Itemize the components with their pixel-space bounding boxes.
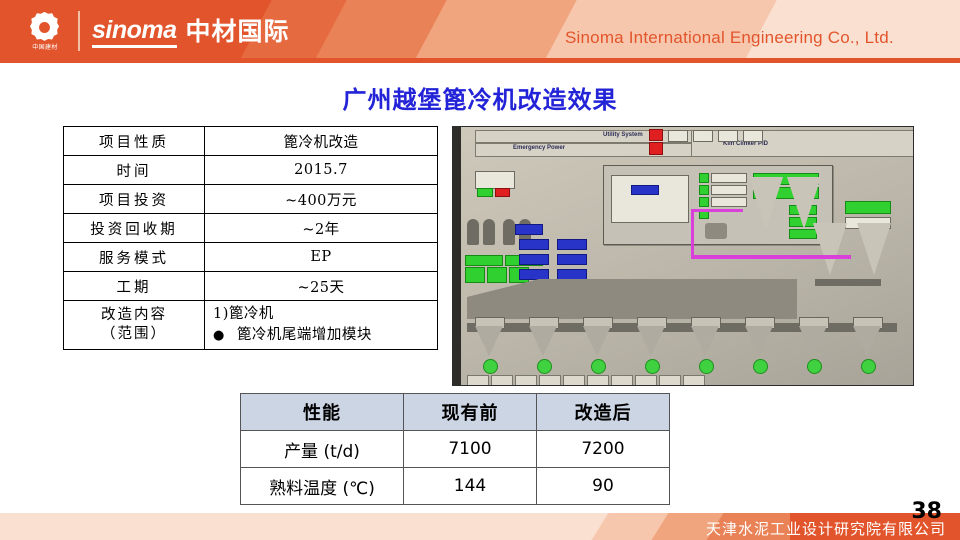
brand-latin: sinoma <box>92 17 177 48</box>
info-value: 2015.7 <box>205 156 438 185</box>
hmi-toolbar-button <box>659 375 681 386</box>
hmi-hopper <box>583 326 611 356</box>
control-room-hmi-photo: Utility System Emergency Power Kiln Clin… <box>452 126 914 386</box>
info-key: 项目性质 <box>64 127 205 156</box>
hmi-toolbar-button <box>683 375 705 386</box>
scope-line-1: 1)篦冷机 <box>213 304 435 325</box>
hmi-label-emergency-power: Emergency Power <box>513 145 565 151</box>
hmi-motor-indicator <box>645 359 660 374</box>
hmi-value-readout <box>557 254 587 265</box>
hmi-motor-indicator <box>591 359 606 374</box>
table-row: 时间 2015.7 <box>64 156 438 185</box>
hmi-motor-indicator <box>699 359 714 374</box>
hmi-motor-indicator <box>753 359 768 374</box>
metric-before: 7100 <box>404 431 537 468</box>
info-value: ~400万元 <box>205 185 438 214</box>
hmi-toolbar-button <box>467 375 489 386</box>
hmi-equipment <box>705 223 727 239</box>
hmi-silo-cone <box>813 223 847 275</box>
gear-logo-icon <box>28 11 61 44</box>
hmi-motor-indicator <box>483 359 498 374</box>
hmi-hopper <box>637 326 665 356</box>
hmi-hopper <box>691 326 719 356</box>
hmi-button <box>743 130 763 142</box>
sinoma-logo: 中国建材 <box>22 9 68 55</box>
brand-lockup: sinoma 中材国际 <box>92 12 290 52</box>
hmi-field <box>711 197 747 207</box>
hmi-motor-indicator <box>861 359 876 374</box>
hmi-hopper <box>745 326 773 356</box>
page-title: 广州越堡篦冷机改造效果 <box>0 80 960 115</box>
hmi-status-green <box>477 188 493 197</box>
hmi-value-readout <box>557 269 587 280</box>
table-row: 投资回收期 ~2年 <box>64 214 438 243</box>
hmi-silo-cone <box>857 223 891 275</box>
header-underline <box>0 58 960 63</box>
hmi-status-green <box>845 201 891 214</box>
metric-after: 7200 <box>537 431 670 468</box>
info-value: EP <box>205 243 438 272</box>
hmi-vessel <box>467 219 479 245</box>
metric-name: 产量 (t/d) <box>241 431 404 468</box>
hmi-status-green <box>465 267 485 283</box>
hmi-status-green <box>699 197 709 207</box>
table-header-row: 性能 现有前 改造后 <box>241 394 670 431</box>
info-key: 项目投资 <box>64 185 205 214</box>
project-info-table: 项目性质 篦冷机改造 时间 2015.7 项目投资 ~400万元 投资回收期 ~… <box>63 126 438 350</box>
hmi-status-green <box>699 173 709 183</box>
info-key: 服务模式 <box>64 243 205 272</box>
column-header-metric: 性能 <box>241 394 404 431</box>
table-row: 项目投资 ~400万元 <box>64 185 438 214</box>
metric-before: 144 <box>404 468 537 505</box>
hmi-hopper <box>853 326 881 356</box>
hmi-toolbar-button <box>611 375 633 386</box>
hmi-status-green <box>487 267 507 283</box>
table-row: 服务模式 EP <box>64 243 438 272</box>
hmi-button <box>693 130 713 142</box>
hmi-toolbar-button <box>587 375 609 386</box>
logo-caption: 中国建材 <box>22 44 68 52</box>
column-header-after: 改造后 <box>537 394 670 431</box>
hmi-alarm-indicator <box>649 129 663 141</box>
hmi-status-red <box>495 188 510 197</box>
hmi-silo-cone <box>749 177 783 229</box>
monitor-bezel <box>453 127 461 385</box>
metric-name: 熟料温度 (℃) <box>241 468 404 505</box>
hmi-pipe <box>691 255 851 259</box>
hmi-status-green <box>465 255 503 266</box>
info-key: 时间 <box>64 156 205 185</box>
hmi-field <box>711 185 747 195</box>
hmi-pipe <box>691 209 694 257</box>
hmi-toolbar-button <box>539 375 561 386</box>
info-value: 篦冷机改造 <box>205 127 438 156</box>
hmi-label-utility-system: Utility System <box>603 132 643 138</box>
table-row: 项目性质 篦冷机改造 <box>64 127 438 156</box>
hmi-screen-content: Utility System Emergency Power Kiln Clin… <box>453 127 913 385</box>
performance-comparison-table: 性能 现有前 改造后 产量 (t/d) 7100 7200 熟料温度 (℃) 1… <box>240 393 670 505</box>
hmi-tag-box <box>475 171 515 189</box>
scope-key-line2: （范围） <box>66 325 202 344</box>
hmi-value-readout <box>515 224 543 235</box>
scope-bullet-item: ●篦冷机尾端增加模块 <box>213 325 435 346</box>
hmi-motor-indicator <box>807 359 822 374</box>
company-name-en: Sinoma International Engineering Co., Lt… <box>565 28 894 48</box>
info-value: ~2年 <box>205 214 438 243</box>
hmi-dialog-panel <box>611 175 689 223</box>
hmi-button <box>718 130 738 142</box>
info-key: 投资回收期 <box>64 214 205 243</box>
hmi-hopper <box>529 326 557 356</box>
table-row: 产量 (t/d) 7100 7200 <box>241 431 670 468</box>
metric-after: 90 <box>537 468 670 505</box>
hmi-vessel <box>503 219 515 245</box>
hmi-value-readout <box>519 239 549 250</box>
scope-key: 改造内容 （范围） <box>64 301 205 350</box>
hmi-value-readout <box>519 254 549 265</box>
hmi-value-readout <box>519 269 549 280</box>
hmi-value-readout <box>631 185 659 195</box>
table-row: 工期 ~25天 <box>64 272 438 301</box>
hmi-alarm-indicator <box>649 142 663 155</box>
scope-key-line1: 改造内容 <box>66 306 202 325</box>
brand-chinese: 中材国际 <box>186 17 290 47</box>
hmi-field <box>711 173 747 183</box>
hmi-toolbar-button <box>515 375 537 386</box>
hmi-silo-cone <box>787 177 821 229</box>
hmi-grate-cooler <box>467 279 797 319</box>
hmi-motor-indicator <box>537 359 552 374</box>
hmi-pipe <box>691 209 743 212</box>
scope-value: 1)篦冷机 ●篦冷机尾端增加模块 <box>205 301 438 350</box>
slide-header: 中国建材 sinoma 中材国际 Sinoma International En… <box>0 0 960 63</box>
hmi-status-green <box>699 185 709 195</box>
hmi-toolbar-button <box>491 375 513 386</box>
column-header-before: 现有前 <box>404 394 537 431</box>
info-value: ~25天 <box>205 272 438 301</box>
scope-bullet-text: 篦冷机尾端增加模块 <box>237 327 372 343</box>
logo-divider <box>78 11 80 51</box>
hmi-hopper <box>475 326 503 356</box>
table-row-scope: 改造内容 （范围） 1)篦冷机 ●篦冷机尾端增加模块 <box>64 301 438 350</box>
slide-footer: 天津水泥工业设计研究院有限公司 <box>0 513 960 540</box>
table-row: 熟料温度 (℃) 144 90 <box>241 468 670 505</box>
hmi-value-readout <box>557 239 587 250</box>
hmi-vessel <box>483 219 495 245</box>
footer-company-name: 天津水泥工业设计研究院有限公司 <box>706 518 946 539</box>
hmi-hopper <box>799 326 827 356</box>
hmi-toolbar-button <box>563 375 585 386</box>
hmi-button <box>668 130 688 142</box>
page-number: 38 <box>911 499 942 524</box>
info-key: 工期 <box>64 272 205 301</box>
hmi-toolbar-button <box>635 375 657 386</box>
bullet-dot-icon: ● <box>213 328 225 343</box>
hmi-conveyor <box>815 279 881 286</box>
